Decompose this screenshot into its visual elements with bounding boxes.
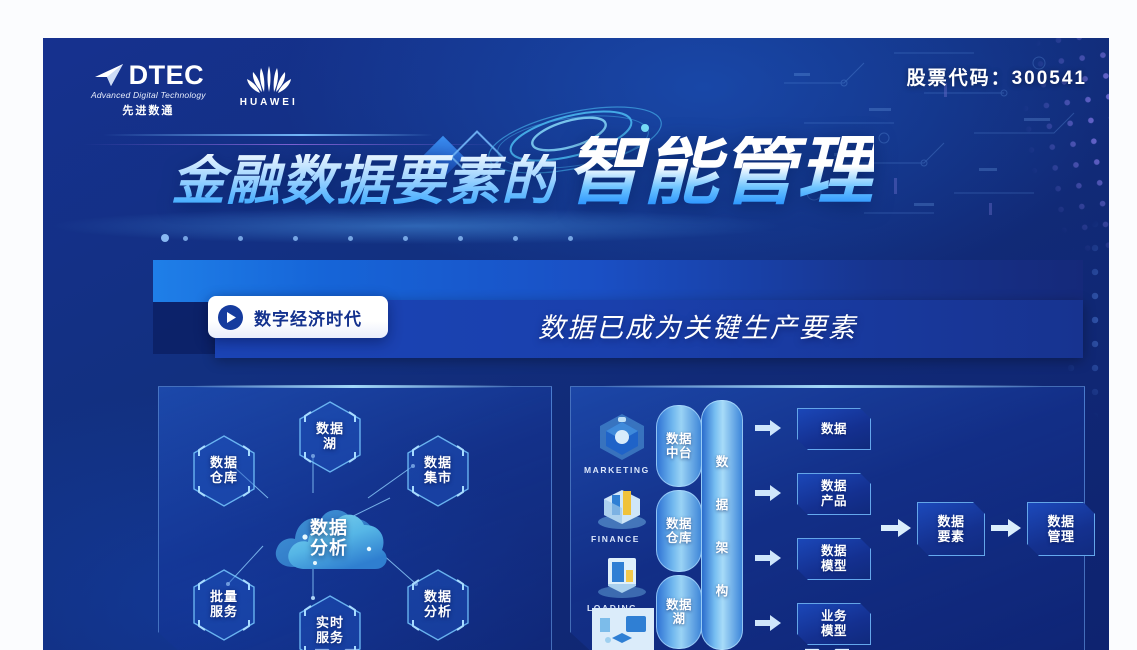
- output-box-data-model[interactable]: 数据 模型: [797, 538, 871, 580]
- cloud-center-node[interactable]: 数据 分析: [271, 493, 387, 579]
- section-badge[interactable]: 数字经济时代: [208, 296, 388, 338]
- play-icon: [218, 305, 243, 330]
- final-line2: 要素: [937, 529, 964, 544]
- architecture-char-1: 数: [716, 451, 729, 470]
- dot-accent: [161, 234, 169, 242]
- source-label-marketing: MARKETING: [584, 465, 650, 475]
- output-line2: 模型: [821, 559, 847, 573]
- data-console-icon: [592, 608, 654, 650]
- huawei-flower-icon: [244, 64, 294, 94]
- pill-line2: 湖: [672, 612, 685, 626]
- hex-label-line1: 数据: [210, 456, 238, 471]
- cloud-label-line2: 分析: [310, 539, 348, 559]
- loading-server-icon: [594, 550, 650, 600]
- hex-label-line2: 服务: [210, 605, 238, 620]
- architecture-char-3: 架: [716, 537, 729, 556]
- output-line1: 数据: [821, 422, 847, 436]
- hex-label-line2: 湖: [323, 437, 337, 452]
- hex-node-data-lake[interactable]: 数据 湖: [297, 400, 363, 474]
- architecture-char-2: 据: [716, 494, 729, 513]
- hex-label-line2: 仓库: [210, 471, 238, 486]
- arrow-right-icon-3: [755, 549, 781, 567]
- hex-node-realtime-service[interactable]: 实时 服务: [297, 594, 363, 650]
- hex-label-line1: 批量: [210, 590, 238, 605]
- title-part-1: 金融数据要素的: [171, 154, 556, 208]
- architecture-pill[interactable]: 数 据 架 构: [701, 400, 743, 650]
- right-panel-glow: [603, 385, 1043, 388]
- hex-label-line1: 数据: [424, 456, 452, 471]
- pill-line1: 数据: [666, 598, 692, 612]
- dtec-arrow-icon: [93, 62, 127, 88]
- pill-line2: 中台: [666, 446, 692, 460]
- output-line2: 产品: [821, 494, 847, 508]
- output-box-data[interactable]: 数据: [797, 408, 871, 450]
- slide-canvas: DTEC Advanced Digital Technology 先进数通: [43, 38, 1109, 650]
- section-badge-label: 数字经济时代: [254, 305, 362, 330]
- stage-pill-data-lake[interactable]: 数据 湖: [656, 575, 702, 649]
- dtec-logo: DTEC Advanced Digital Technology 先进数通: [91, 62, 206, 118]
- arrow-right-icon-final-2: [991, 518, 1021, 538]
- hex-label-line1: 数据: [316, 422, 344, 437]
- output-box-business-model[interactable]: 业务 模型: [797, 603, 871, 645]
- output-box-data-product[interactable]: 数据 产品: [797, 473, 871, 515]
- architecture-char-4: 构: [716, 580, 729, 599]
- cloud-center-label: 数据 分析: [310, 519, 348, 559]
- final-box-data-management[interactable]: 数据 管理: [1027, 502, 1095, 556]
- banner-headline: 数据已成为关键生产要素: [538, 306, 857, 345]
- hex-label-line1: 数据: [424, 590, 452, 605]
- finance-chart-icon: [594, 481, 650, 531]
- final-line2: 管理: [1047, 529, 1074, 544]
- dtec-chinese-name: 先进数通: [122, 102, 174, 118]
- arrow-right-icon-4: [755, 614, 781, 632]
- hex-label-line2: 集市: [424, 471, 452, 486]
- huawei-logo: HUAWEI: [240, 64, 298, 108]
- dtec-tagline: Advanced Digital Technology: [91, 90, 206, 100]
- final-line1: 数据: [937, 514, 964, 529]
- hex-label-line2: 服务: [316, 631, 344, 646]
- cloud-label-line1: 数据: [310, 519, 348, 539]
- hex-node-data-warehouse[interactable]: 数据 仓库: [191, 434, 257, 508]
- arrow-right-icon-1: [755, 419, 781, 437]
- stock-code-label: 股票代码：300541: [907, 63, 1087, 90]
- dtec-wordmark: DTEC: [129, 62, 205, 88]
- final-box-data-element[interactable]: 数据 要素: [917, 502, 985, 556]
- pill-line2: 仓库: [666, 531, 692, 545]
- stage-pill-data-warehouse[interactable]: 数据 仓库: [656, 490, 702, 572]
- pill-line1: 数据: [666, 432, 692, 446]
- huawei-wordmark: HUAWEI: [240, 97, 298, 108]
- hex-label-line1: 实时: [316, 616, 344, 631]
- arrow-right-icon-2: [755, 484, 781, 502]
- output-line2: 模型: [821, 624, 847, 638]
- stage-pill-data-midend[interactable]: 数据 中台: [656, 405, 702, 487]
- page-title: 金融数据要素的 智能管理: [171, 136, 874, 208]
- output-line1: 数据: [821, 479, 847, 493]
- logo-group: DTEC Advanced Digital Technology 先进数通: [91, 62, 298, 118]
- final-line1: 数据: [1047, 514, 1074, 529]
- source-label-finance: FINANCE: [591, 534, 640, 544]
- output-line1: 业务: [821, 609, 847, 623]
- title-part-2: 智能管理: [566, 136, 874, 208]
- hex-node-data-mart[interactable]: 数据 集市: [405, 434, 471, 508]
- pill-line1: 数据: [666, 517, 692, 531]
- banner-shadow: [153, 302, 215, 354]
- hex-node-data-analysis[interactable]: 数据 分析: [405, 568, 471, 642]
- hex-node-batch-service[interactable]: 批量 服务: [191, 568, 257, 642]
- output-line1: 数据: [821, 544, 847, 558]
- hex-label-line2: 分析: [424, 605, 452, 620]
- marketing-cube-icon: [594, 412, 650, 462]
- dot-row-decoration: [183, 236, 583, 242]
- arrow-right-icon-final-1: [881, 518, 911, 538]
